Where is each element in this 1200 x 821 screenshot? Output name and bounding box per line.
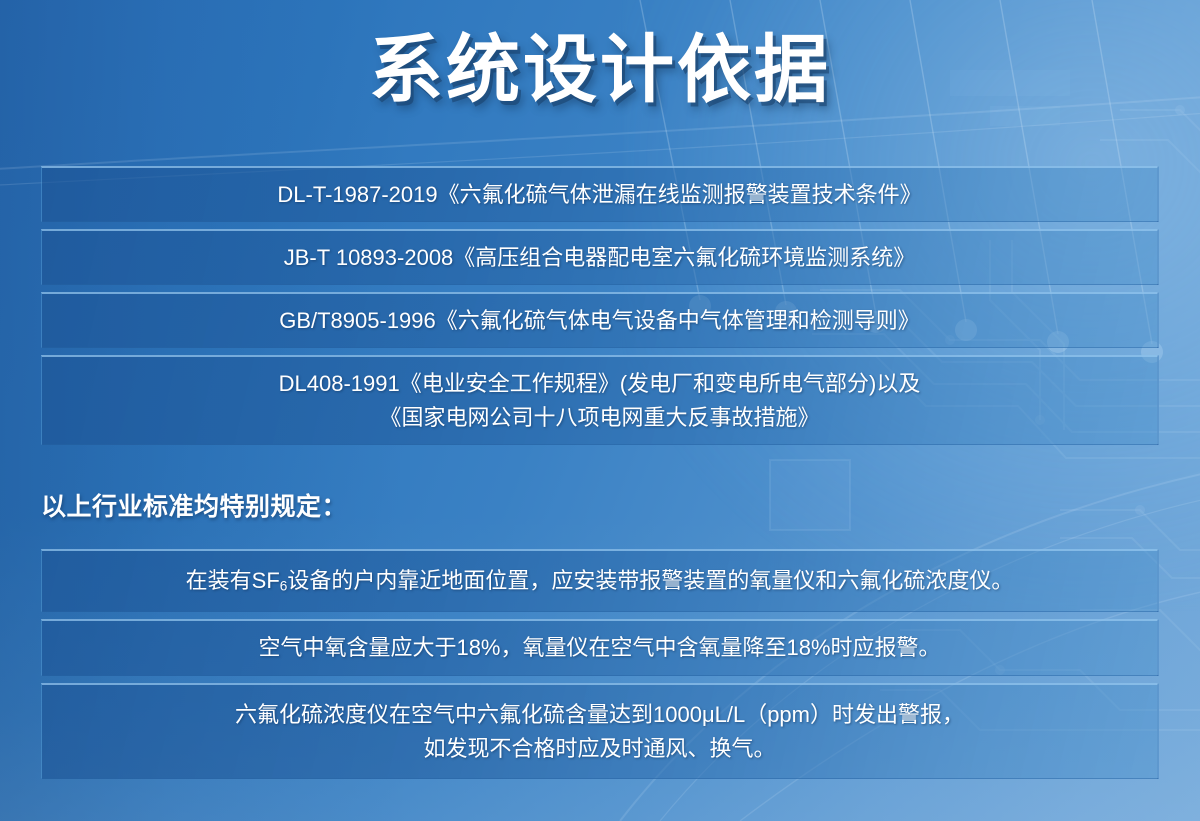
standard-row-text: DL408-1991《电业安全工作规程》(发电厂和变电所电气部分)以及 《国家电… — [261, 367, 939, 435]
standard-row: JB-T 10893-2008《高压组合电器配电室六氟化硫环境监测系统》 — [41, 229, 1159, 285]
standard-row: GB/T8905-1996《六氟化硫气体电气设备中气体管理和检测导则》 — [41, 292, 1159, 348]
provisions-list: 在装有SF6设备的户内靠近地面位置，应安装带报警装置的氧量仪和六氟化硫浓度仪。 … — [41, 549, 1159, 779]
standard-row: DL-T-1987-2019《六氟化硫气体泄漏在线监测报警装置技术条件》 — [41, 166, 1159, 222]
provision-row-text: 六氟化硫浓度仪在空气中六氟化硫含量达到1000μL/L（ppm）时发出警报， 如… — [217, 698, 982, 766]
standard-row: DL408-1991《电业安全工作规程》(发电厂和变电所电气部分)以及 《国家电… — [41, 355, 1159, 445]
standards-list: DL-T-1987-2019《六氟化硫气体泄漏在线监测报警装置技术条件》 JB-… — [41, 166, 1159, 445]
provision-row: 空气中氧含量应大于18%，氧量仪在空气中含氧量降至18%时应报警。 — [41, 619, 1159, 676]
page-title: 系统设计依据 — [0, 30, 1200, 110]
provision-row: 在装有SF6设备的户内靠近地面位置，应安装带报警装置的氧量仪和六氟化硫浓度仪。 — [41, 549, 1159, 612]
provision-text-suffix: 设备的户内靠近地面位置，应安装带报警装置的氧量仪和六氟化硫浓度仪。 — [287, 568, 1013, 593]
section-note: 以上行业标准均特别规定： — [41, 487, 347, 523]
provision-text-prefix: 在装有SF — [186, 568, 280, 593]
standard-row-text: GB/T8905-1996《六氟化硫气体电气设备中气体管理和检测导则》 — [261, 304, 938, 338]
standard-row-text: JB-T 10893-2008《高压组合电器配电室六氟化硫环境监测系统》 — [266, 241, 934, 275]
slide-canvas: 系统设计依据 DL-T-1987-2019《六氟化硫气体泄漏在线监测报警装置技术… — [0, 0, 1200, 821]
standard-row-text: DL-T-1987-2019《六氟化硫气体泄漏在线监测报警装置技术条件》 — [259, 178, 939, 212]
provision-row: 六氟化硫浓度仪在空气中六氟化硫含量达到1000μL/L（ppm）时发出警报， 如… — [41, 683, 1159, 779]
provision-row-text: 空气中氧含量应大于18%，氧量仪在空气中含氧量降至18%时应报警。 — [240, 631, 958, 665]
provision-row-text: 在装有SF6设备的户内靠近地面位置，应安装带报警装置的氧量仪和六氟化硫浓度仪。 — [168, 564, 1032, 598]
